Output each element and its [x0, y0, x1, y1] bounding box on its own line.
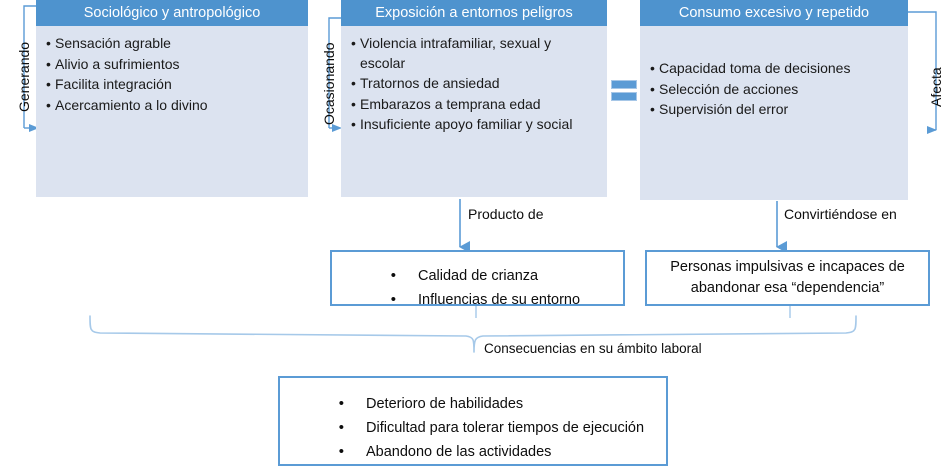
list-item-label: Abandono de las actividades	[344, 441, 666, 464]
list-item: • Insuficiente apoyo familiar y social	[351, 115, 597, 135]
equals-connector-icon	[611, 80, 637, 104]
list-item-label: Facilita integración	[55, 75, 298, 95]
box-consecuencias-laborales: • Deterioro de habilidades • Dificultad …	[278, 376, 668, 466]
list-item: • Acercamiento a lo divino	[46, 96, 298, 116]
label-afecta: Afecta	[928, 67, 944, 107]
list-item: • Selección de acciones	[650, 80, 898, 100]
bullet-icon: •	[46, 75, 55, 95]
bullet-icon: •	[46, 34, 55, 54]
equals-bar-bottom	[611, 92, 637, 101]
list-item: • Embarazos a temprana edad	[351, 95, 597, 115]
list-item-label: Influencias de su entorno	[396, 289, 623, 312]
list-item: • Violencia intrafamiliar, sexual y esco…	[351, 34, 597, 73]
bullet-icon: •	[46, 55, 55, 75]
label-ocasionando: Ocasionando	[321, 42, 337, 125]
box-calidad-crianza: • Calidad de crianza • Influencias de su…	[330, 250, 625, 306]
label-convirtiendose-en: Convirtiéndose en	[784, 206, 897, 222]
list-item: • Dificultad para tolerar tiempos de eje…	[280, 416, 666, 440]
equals-bar-top	[611, 80, 637, 89]
bullet-icon: •	[332, 264, 396, 287]
list-item-label: Alivio a sufrimientos	[55, 55, 298, 75]
bullet-icon: •	[650, 59, 659, 79]
callout-consumo-header: Consumo excesivo y repetido	[640, 0, 908, 26]
bullet-icon: •	[351, 74, 360, 94]
callout-sociologico-header: Sociológico y antropológico	[36, 0, 308, 26]
bullet-icon: •	[280, 392, 344, 415]
list-item: • Alivio a sufrimientos	[46, 55, 298, 75]
bullet-icon: •	[650, 80, 659, 100]
list-item-label: Acercamiento a lo divino	[55, 96, 298, 116]
list-item-label: Tratornos de ansiedad	[360, 74, 597, 94]
bullet-icon: •	[351, 115, 360, 135]
list-item-label: Deterioro de habilidades	[344, 393, 666, 416]
callout-exposicion-header: Exposición a entornos peligros	[341, 0, 607, 26]
bullet-icon: •	[351, 34, 360, 54]
bullet-icon: •	[280, 416, 344, 439]
list-item-label: Capacidad toma de decisiones	[659, 59, 898, 79]
list-item: • Supervisión del error	[650, 100, 898, 120]
bullet-icon: •	[46, 96, 55, 116]
bullet-icon: •	[351, 95, 360, 115]
callout-consumo-body: • Capacidad toma de decisiones • Selecci…	[640, 26, 908, 125]
box-personas-line-1: Personas impulsivas e incapaces de	[670, 257, 905, 278]
list-item: • Capacidad toma de decisiones	[650, 59, 898, 79]
bullet-icon: •	[650, 100, 659, 120]
consequences-brace	[90, 316, 856, 352]
list-item-label: Violencia intrafamiliar, sexual y escola…	[360, 34, 597, 73]
list-item-label: Dificultad para tolerar tiempos de ejecu…	[344, 417, 666, 440]
list-item: • Tratornos de ansiedad	[351, 74, 597, 94]
list-item: • Sensación agrable	[46, 34, 298, 54]
label-consecuencias: Consecuencias en su ámbito laboral	[484, 341, 702, 356]
box-personas-line-2: abandonar esa “dependencia”	[691, 278, 884, 299]
list-item: • Facilita integración	[46, 75, 298, 95]
callout-consumo: Consumo excesivo y repetido • Capacidad …	[640, 0, 908, 200]
callout-sociologico-body: • Sensación agrable • Alivio a sufrimien…	[36, 26, 308, 120]
callout-exposicion: Exposición a entornos peligros • Violenc…	[341, 0, 607, 197]
bullet-icon: •	[280, 440, 344, 463]
list-item-label: Selección de acciones	[659, 80, 898, 100]
box-personas-impulsivas: Personas impulsivas e incapaces de aband…	[645, 250, 930, 306]
callout-sociologico: Sociológico y antropológico • Sensación …	[36, 0, 308, 197]
list-item: • Deterioro de habilidades	[280, 392, 666, 416]
label-producto-de: Producto de	[468, 206, 544, 222]
list-item-label: Supervisión del error	[659, 100, 898, 120]
list-item: • Calidad de crianza	[332, 264, 623, 288]
list-item-label: Sensación agrable	[55, 34, 298, 54]
label-generando: Generando	[16, 42, 32, 112]
list-item-label: Calidad de crianza	[396, 265, 623, 288]
callout-exposicion-body: • Violencia intrafamiliar, sexual y esco…	[341, 26, 607, 140]
list-item: • Abandono de las actividades	[280, 440, 666, 464]
diagram-canvas: Sociológico y antropológico • Sensación …	[0, 0, 948, 470]
list-item-label: Embarazos a temprana edad	[360, 95, 597, 115]
list-item: • Influencias de su entorno	[332, 288, 623, 312]
list-item-label: Insuficiente apoyo familiar y social	[360, 115, 597, 135]
bullet-icon: •	[332, 288, 396, 311]
